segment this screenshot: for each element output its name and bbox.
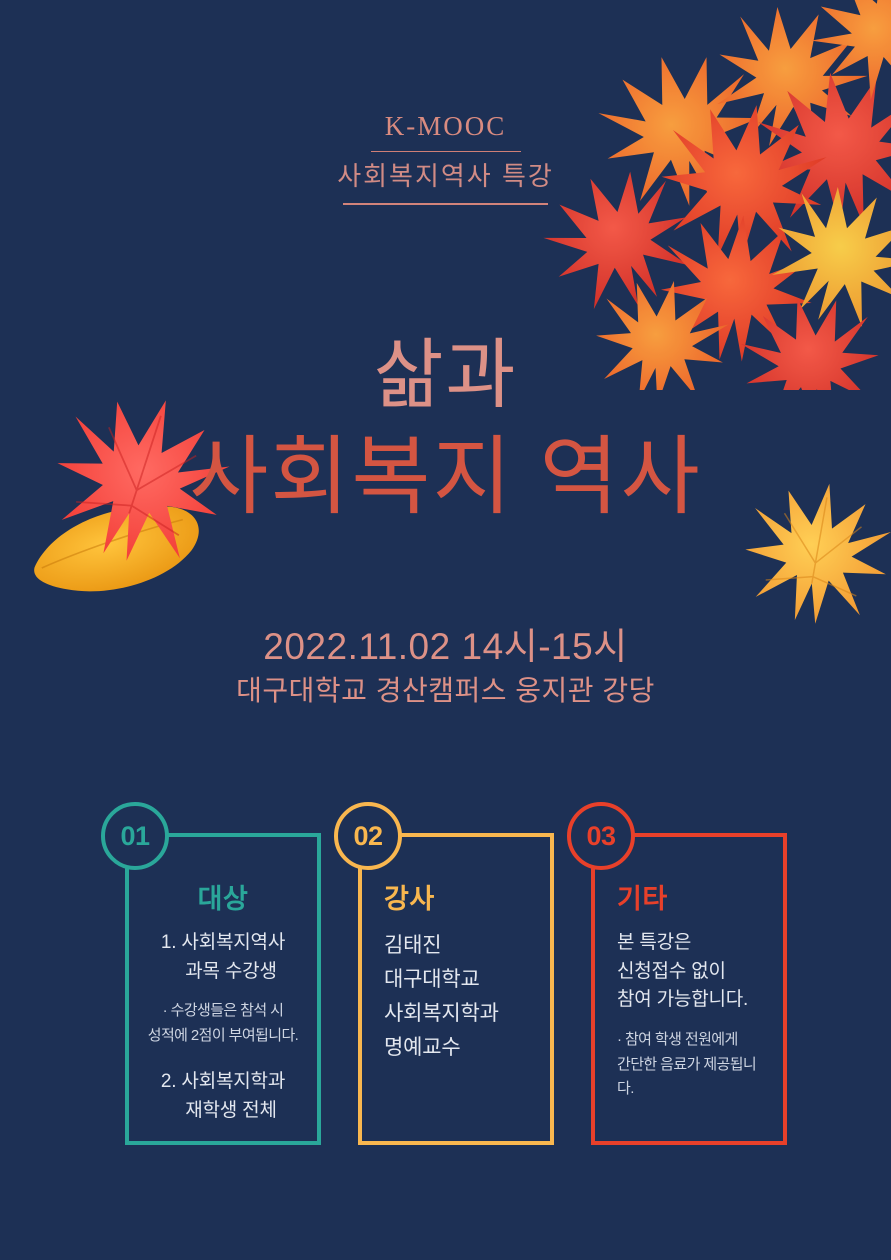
info-box-line: 대구대학교 bbox=[384, 963, 536, 997]
info-box-content: 강사 김태진 대구대학교 사회복지학과 명예교수 bbox=[362, 885, 550, 1065]
info-box-line: 2. 사회복지학과 bbox=[143, 1068, 303, 1097]
info-box-heading: 기타 bbox=[617, 885, 769, 915]
spacer bbox=[617, 1015, 769, 1028]
info-box-line: 본 특강은 bbox=[617, 929, 769, 958]
info-box-line: 사회복지학과 bbox=[384, 997, 536, 1031]
info-box-number-badge: 02 bbox=[334, 802, 402, 870]
event-date: 2022.11.02 14시-15시 bbox=[0, 626, 891, 669]
info-box-content: 기타 본 특강은 신청접수 없이 참여 가능합니다. · 참여 학생 전원에게 … bbox=[595, 885, 783, 1101]
info-box-note: 성적에 2점이 부여됩니다. bbox=[143, 1024, 303, 1048]
info-box-line: 신청접수 없이 bbox=[617, 958, 769, 987]
brand-label: K-MOOC bbox=[0, 112, 891, 142]
info-box-line: 과목 수강생 bbox=[143, 958, 303, 987]
spacer bbox=[143, 1048, 303, 1068]
info-box-line: 김태진 bbox=[384, 929, 536, 963]
info-box-heading: 강사 bbox=[384, 885, 536, 915]
info-box-content: 대상 1. 사회복지역사 과목 수강생 · 수강생들은 참석 시 성적에 2점이… bbox=[129, 885, 317, 1126]
spacer bbox=[143, 986, 303, 999]
event-place: 대구대학교 경산캠퍼스 웅지관 강당 bbox=[0, 673, 891, 709]
header-subtitle: 사회복지역사 특강 bbox=[0, 160, 891, 194]
info-box-line: 재학생 전체 bbox=[143, 1097, 303, 1126]
info-box-misc: 03 기타 본 특강은 신청접수 없이 참여 가능합니다. · 참여 학생 전원… bbox=[591, 833, 787, 1145]
info-box-instructor: 02 강사 김태진 대구대학교 사회복지학과 명예교수 bbox=[358, 833, 554, 1145]
info-box-number-badge: 03 bbox=[567, 802, 635, 870]
info-box-note: · 수강생들은 참석 시 bbox=[143, 999, 303, 1023]
title-line-2: 사회복지 역사 bbox=[0, 432, 891, 522]
schedule-block: 2022.11.02 14시-15시 대구대학교 경산캠퍼스 웅지관 강당 bbox=[0, 626, 891, 709]
poster-header: K-MOOC 사회복지역사 특강 bbox=[0, 112, 891, 205]
header-rule-top bbox=[371, 151, 521, 153]
info-box-note: 간단한 음료가 제공됩니다. bbox=[617, 1053, 769, 1102]
title-line-1: 삶과 bbox=[0, 338, 891, 414]
info-box-target: 01 대상 1. 사회복지역사 과목 수강생 · 수강생들은 참석 시 성적에 … bbox=[125, 833, 321, 1145]
info-box-line: 참여 가능합니다. bbox=[617, 986, 769, 1015]
info-box-group: 01 대상 1. 사회복지역사 과목 수강생 · 수강생들은 참석 시 성적에 … bbox=[0, 798, 891, 1158]
header-rule-bottom bbox=[343, 203, 548, 206]
info-box-line: 1. 사회복지역사 bbox=[143, 929, 303, 958]
info-box-heading: 대상 bbox=[143, 885, 303, 915]
info-box-line: 명예교수 bbox=[384, 1031, 536, 1065]
info-box-note: · 참여 학생 전원에게 bbox=[617, 1028, 769, 1052]
main-title: 삶과 사회복지 역사 bbox=[0, 338, 891, 522]
poster-canvas: K-MOOC 사회복지역사 특강 삶과 사회복지 역사 2022.11.02 1… bbox=[0, 0, 891, 1260]
info-box-number-badge: 01 bbox=[101, 802, 169, 870]
